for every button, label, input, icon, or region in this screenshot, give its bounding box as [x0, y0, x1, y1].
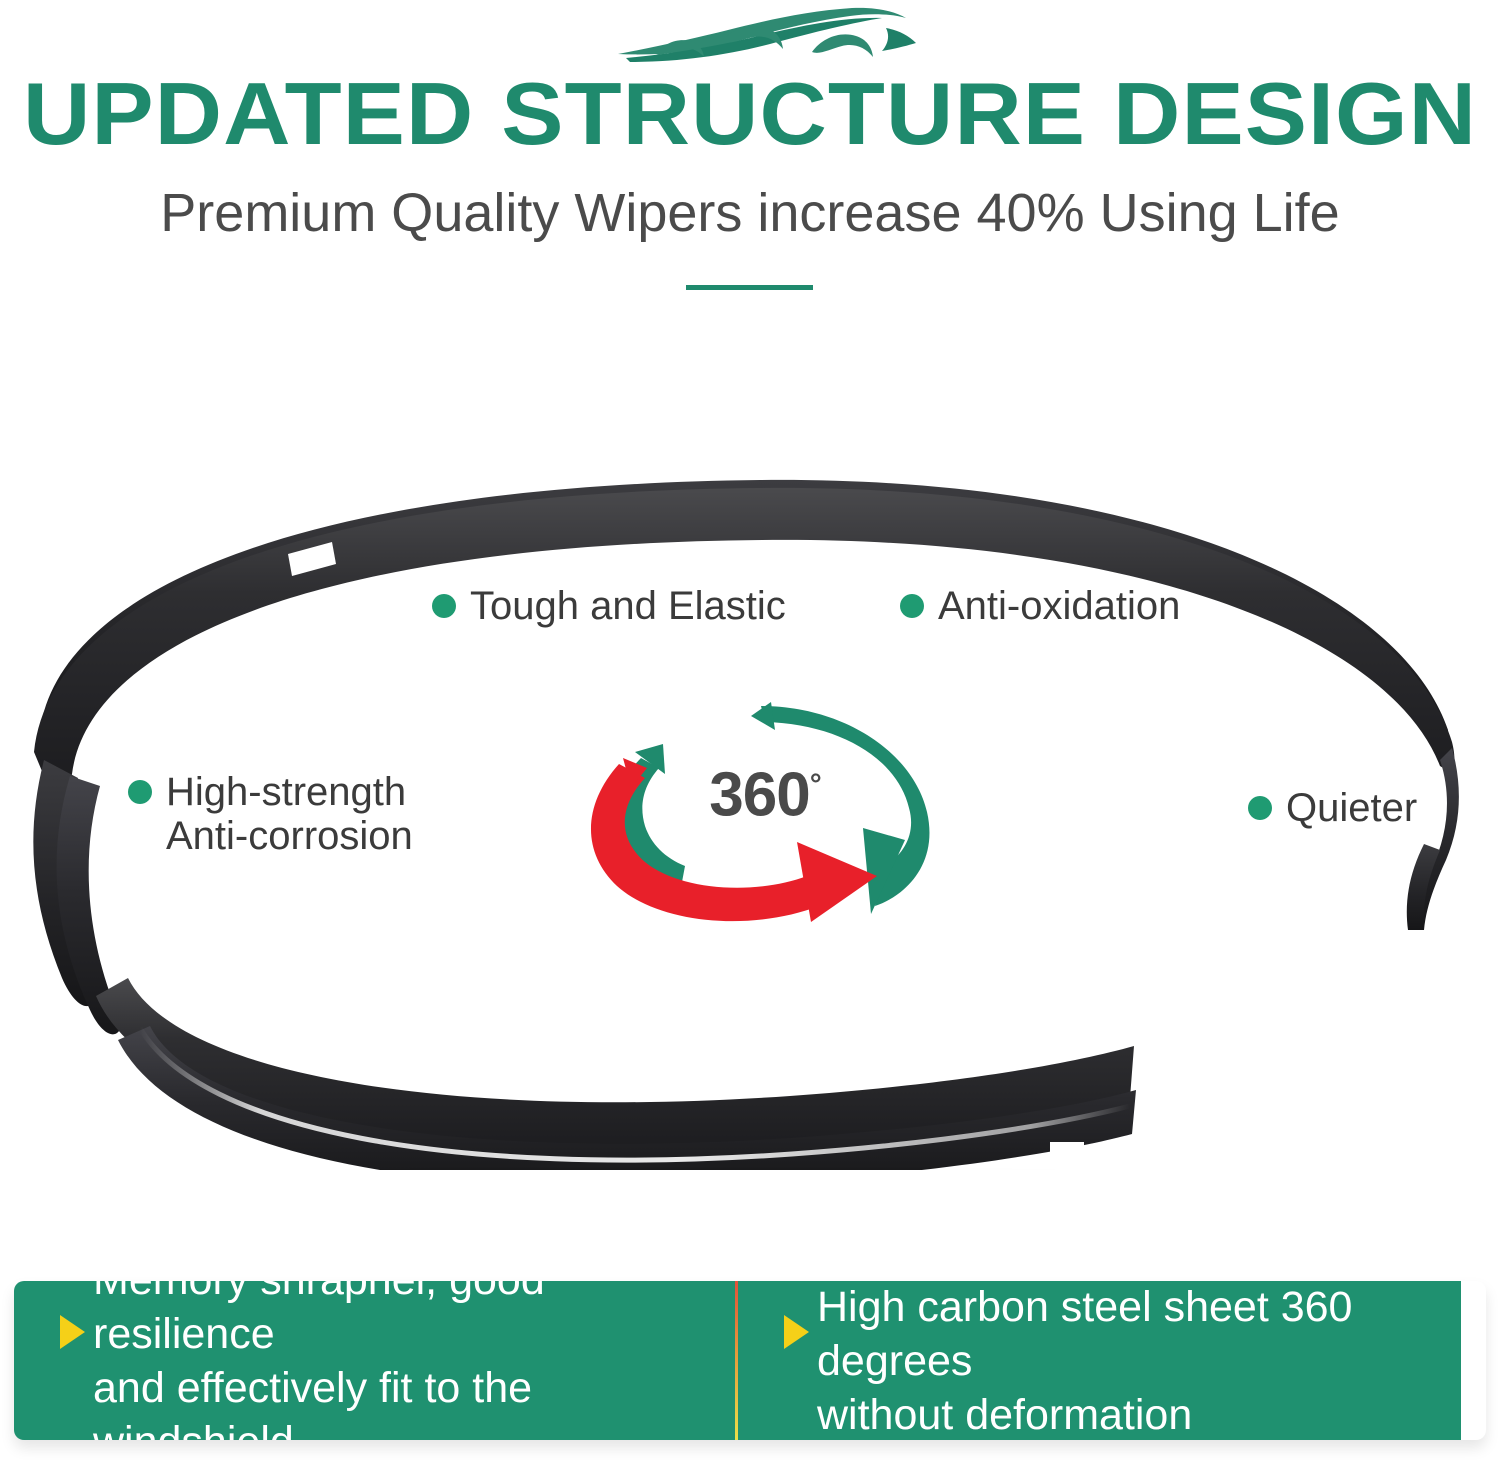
title-underline-divider — [686, 285, 813, 290]
bottom-feature-banner: Memory shrapnel, good resilience and eff… — [14, 1281, 1486, 1440]
badge-360-degree: 360° — [575, 700, 955, 925]
badge-360-label: 360° — [575, 754, 955, 827]
triangle-bullet-icon — [784, 1315, 809, 1349]
bullet-dot-icon — [432, 594, 456, 618]
feature-callout-high-strength-anti-corrosion: High-strength Anti-corrosion — [128, 770, 413, 858]
banner-text-left: Memory shrapnel, good resilience and eff… — [93, 1281, 735, 1440]
feature-callout-anti-oxidation: Anti-oxidation — [900, 584, 1180, 628]
feature-callout-quieter: Quieter — [1248, 786, 1417, 830]
bullet-dot-icon — [128, 780, 152, 804]
product-feature-infographic: UPDATED STRUCTURE DESIGN Premium Quality… — [0, 0, 1500, 1475]
triangle-bullet-icon — [60, 1315, 85, 1349]
car-silhouette-icon — [600, 2, 920, 68]
page-title: UPDATED STRUCTURE DESIGN — [0, 66, 1500, 162]
feature-label: Quieter — [1286, 786, 1417, 830]
feature-label: High-strength Anti-corrosion — [166, 770, 413, 858]
bullet-dot-icon — [900, 594, 924, 618]
degree-symbol-icon: ° — [810, 768, 821, 801]
feature-callout-tough-and-elastic: Tough and Elastic — [432, 584, 786, 628]
feature-label: Tough and Elastic — [470, 584, 786, 628]
banner-panel-memory-shrapnel: Memory shrapnel, good resilience and eff… — [14, 1281, 735, 1440]
page-subtitle: Premium Quality Wipers increase 40% Usin… — [0, 182, 1500, 244]
badge-360-value: 360 — [709, 761, 809, 830]
bullet-dot-icon — [1248, 796, 1272, 820]
feature-label: Anti-oxidation — [938, 584, 1180, 628]
banner-panel-high-carbon-steel: High carbon steel sheet 360 degrees with… — [738, 1281, 1461, 1440]
banner-text-right: High carbon steel sheet 360 degrees with… — [817, 1281, 1461, 1440]
